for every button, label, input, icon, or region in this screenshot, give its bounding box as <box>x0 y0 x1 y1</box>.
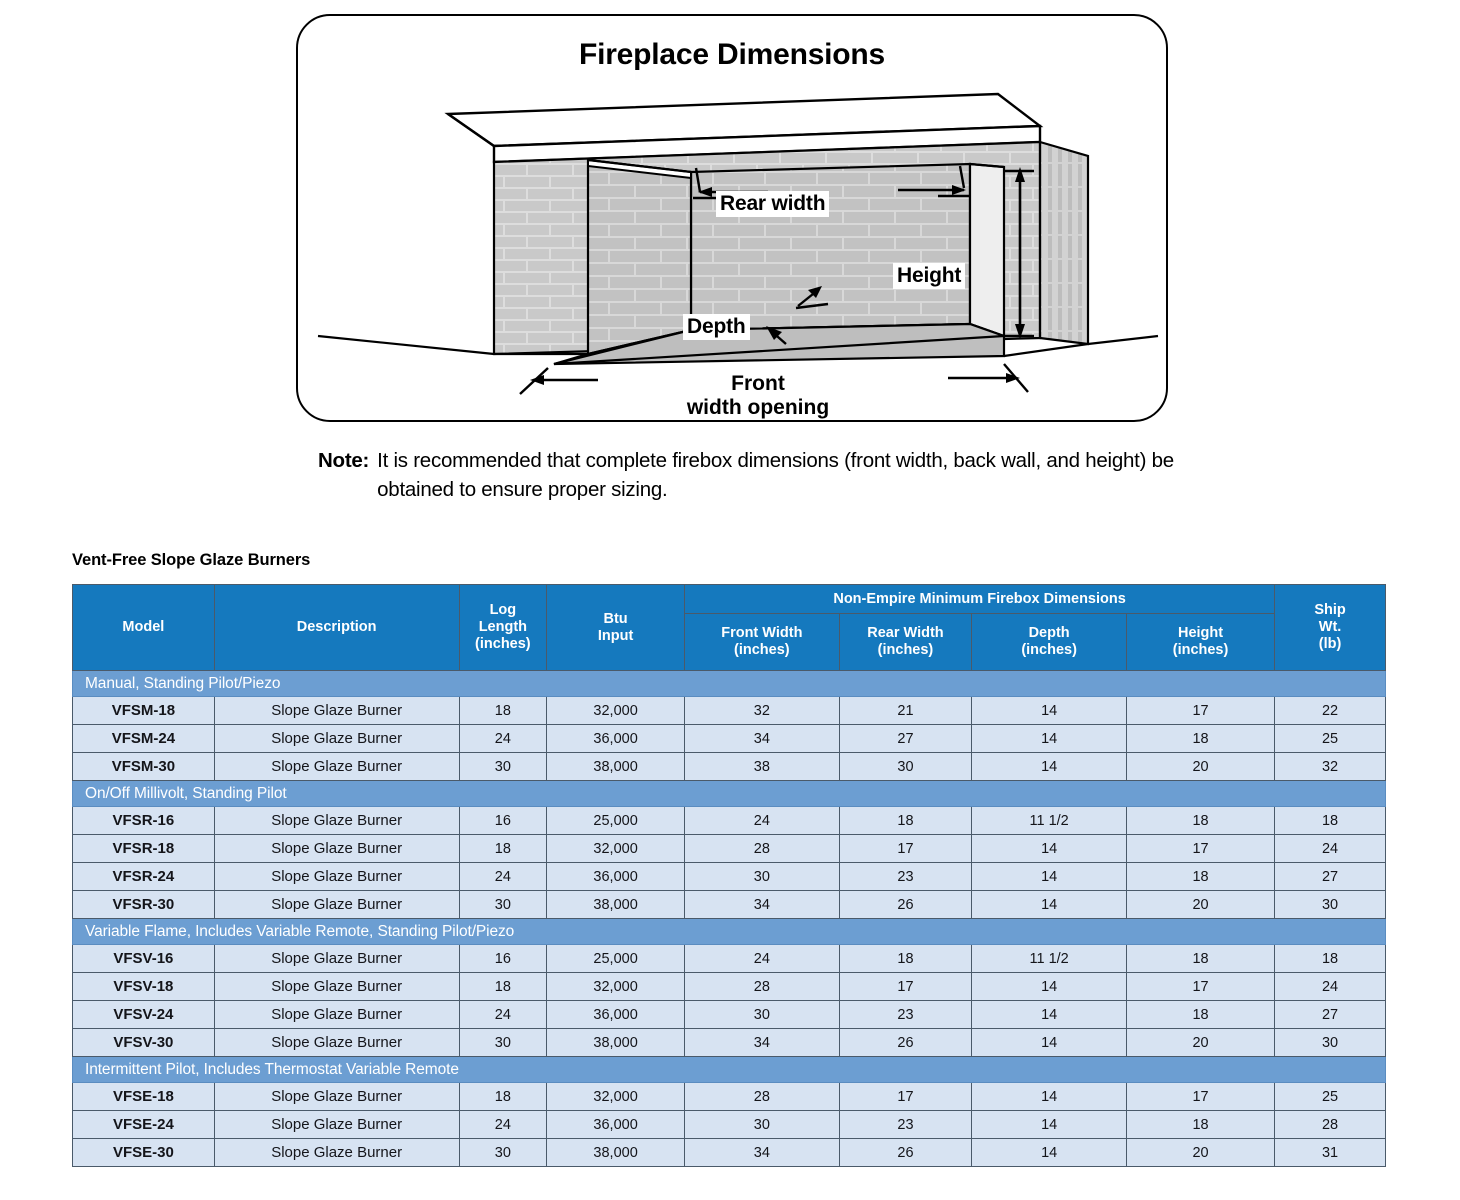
cell-description: Slope Glaze Burner <box>214 725 459 753</box>
cell-log-length: 24 <box>459 1001 547 1029</box>
cell-height: 17 <box>1126 1083 1274 1111</box>
table-row: VFSV-18Slope Glaze Burner1832,0002817141… <box>73 973 1386 1001</box>
cell-height: 18 <box>1126 807 1274 835</box>
section-title: Manual, Standing Pilot/Piezo <box>73 671 1386 697</box>
ship-wt-line3: (lb) <box>1319 636 1342 652</box>
cell-log-length: 18 <box>459 973 547 1001</box>
cell-btu-input: 25,000 <box>547 945 685 973</box>
col-header-description: Description <box>214 585 459 671</box>
cell-front-width: 24 <box>685 945 840 973</box>
log-length-line3: (inches) <box>475 636 531 652</box>
cell-description: Slope Glaze Burner <box>214 697 459 725</box>
cell-btu-input: 32,000 <box>547 697 685 725</box>
cell-model: VFSE-30 <box>73 1139 215 1167</box>
cell-model: VFSE-18 <box>73 1083 215 1111</box>
rear-width-line1: Rear Width <box>867 625 943 641</box>
cell-model: VFSV-16 <box>73 945 215 973</box>
cell-ship-wt: 27 <box>1275 1001 1386 1029</box>
cell-model: VFSM-24 <box>73 725 215 753</box>
cell-model: VFSV-18 <box>73 973 215 1001</box>
log-length-line2: Length <box>479 619 527 635</box>
header-row-group: Model Description Log Length (inches) Bt… <box>73 585 1386 614</box>
cell-ship-wt: 25 <box>1275 1083 1386 1111</box>
cell-log-length: 30 <box>459 1029 547 1057</box>
cell-rear-width: 26 <box>839 1139 972 1167</box>
cell-depth: 14 <box>972 1139 1127 1167</box>
cell-log-length: 18 <box>459 1083 547 1111</box>
cell-log-length: 18 <box>459 835 547 863</box>
front-width-opening-label: Front width opening <box>638 372 878 419</box>
btu-line2: Input <box>598 628 633 644</box>
cell-ship-wt: 31 <box>1275 1139 1386 1167</box>
cell-depth: 14 <box>972 835 1127 863</box>
cell-depth: 14 <box>972 863 1127 891</box>
depth-line1: Depth <box>1029 625 1070 641</box>
cell-height: 17 <box>1126 973 1274 1001</box>
section-title: Intermittent Pilot, Includes Thermostat … <box>73 1057 1386 1083</box>
cell-model: VFSV-30 <box>73 1029 215 1057</box>
cell-model: VFSM-18 <box>73 697 215 725</box>
table-row: VFSE-30Slope Glaze Burner3038,0003426142… <box>73 1139 1386 1167</box>
front-width-line2: width opening <box>687 396 829 419</box>
section-header-row: On/Off Millivolt, Standing Pilot <box>73 781 1386 807</box>
col-header-height: Height (inches) <box>1126 614 1274 671</box>
table-row: VFSV-16Slope Glaze Burner1625,000241811 … <box>73 945 1386 973</box>
depth-line2: (inches) <box>1021 642 1077 658</box>
cell-height: 18 <box>1126 945 1274 973</box>
diagram-title: Fireplace Dimensions <box>298 38 1166 72</box>
cell-height: 18 <box>1126 1001 1274 1029</box>
cell-rear-width: 27 <box>839 725 972 753</box>
cell-model: VFSE-24 <box>73 1111 215 1139</box>
cell-depth: 11 1/2 <box>972 807 1127 835</box>
cell-log-length: 30 <box>459 753 547 781</box>
table-head: Model Description Log Length (inches) Bt… <box>73 585 1386 671</box>
cell-rear-width: 23 <box>839 1111 972 1139</box>
cell-log-length: 24 <box>459 725 547 753</box>
table-row: VFSM-30Slope Glaze Burner3038,0003830142… <box>73 753 1386 781</box>
cell-model: VFSR-24 <box>73 863 215 891</box>
cell-btu-input: 38,000 <box>547 891 685 919</box>
cell-rear-width: 17 <box>839 1083 972 1111</box>
cell-ship-wt: 24 <box>1275 973 1386 1001</box>
cell-rear-width: 26 <box>839 1029 972 1057</box>
table-row: VFSE-24Slope Glaze Burner2436,0003023141… <box>73 1111 1386 1139</box>
table-row: VFSV-24Slope Glaze Burner2436,0003023141… <box>73 1001 1386 1029</box>
table-row: VFSR-16Slope Glaze Burner1625,000241811 … <box>73 807 1386 835</box>
cell-model: VFSM-30 <box>73 753 215 781</box>
section-header-row: Manual, Standing Pilot/Piezo <box>73 671 1386 697</box>
cell-depth: 14 <box>972 1111 1127 1139</box>
front-width-line1: Front Width <box>721 625 802 641</box>
cell-front-width: 34 <box>685 1029 840 1057</box>
ship-wt-line2: Wt. <box>1319 619 1342 635</box>
table-row: VFSE-18Slope Glaze Burner1832,0002817141… <box>73 1083 1386 1111</box>
cell-front-width: 30 <box>685 1001 840 1029</box>
cell-btu-input: 32,000 <box>547 835 685 863</box>
cell-description: Slope Glaze Burner <box>214 1139 459 1167</box>
cell-ship-wt: 27 <box>1275 863 1386 891</box>
front-width-line1: Front <box>731 372 785 395</box>
spec-table-container: Model Description Log Length (inches) Bt… <box>72 584 1386 1167</box>
cell-description: Slope Glaze Burner <box>214 1083 459 1111</box>
cell-height: 17 <box>1126 697 1274 725</box>
cell-depth: 14 <box>972 725 1127 753</box>
cell-front-width: 28 <box>685 973 840 1001</box>
col-header-rear-width: Rear Width (inches) <box>839 614 972 671</box>
cell-rear-width: 26 <box>839 891 972 919</box>
cell-front-width: 32 <box>685 697 840 725</box>
cell-log-length: 24 <box>459 1111 547 1139</box>
height-line2: (inches) <box>1173 642 1229 658</box>
cell-rear-width: 30 <box>839 753 972 781</box>
col-header-depth: Depth (inches) <box>972 614 1127 671</box>
cell-model: VFSR-16 <box>73 807 215 835</box>
cell-ship-wt: 30 <box>1275 891 1386 919</box>
cell-ship-wt: 18 <box>1275 807 1386 835</box>
vent-free-slope-glaze-burners-table: Model Description Log Length (inches) Bt… <box>72 584 1386 1167</box>
note-block: Note:It is recommended that complete fir… <box>318 446 1198 504</box>
col-header-log-length: Log Length (inches) <box>459 585 547 671</box>
table-row: VFSR-30Slope Glaze Burner3038,0003426142… <box>73 891 1386 919</box>
cell-front-width: 30 <box>685 863 840 891</box>
table-caption: Vent-Free Slope Glaze Burners <box>72 551 310 570</box>
cell-btu-input: 32,000 <box>547 1083 685 1111</box>
height-label: Height <box>893 263 965 289</box>
cell-rear-width: 18 <box>839 945 972 973</box>
section-title: Variable Flame, Includes Variable Remote… <box>73 919 1386 945</box>
cell-height: 18 <box>1126 1111 1274 1139</box>
log-length-line1: Log <box>490 602 517 618</box>
cell-description: Slope Glaze Burner <box>214 973 459 1001</box>
cell-description: Slope Glaze Burner <box>214 835 459 863</box>
cell-description: Slope Glaze Burner <box>214 807 459 835</box>
cell-log-length: 30 <box>459 891 547 919</box>
cell-ship-wt: 22 <box>1275 697 1386 725</box>
col-header-front-width: Front Width (inches) <box>685 614 840 671</box>
col-header-ship-wt: Ship Wt. (lb) <box>1275 585 1386 671</box>
cell-description: Slope Glaze Burner <box>214 945 459 973</box>
cell-log-length: 24 <box>459 863 547 891</box>
fireplace-illustration <box>298 68 1170 420</box>
table-body: Manual, Standing Pilot/PiezoVFSM-18Slope… <box>73 671 1386 1167</box>
fireplace-dimensions-panel: Fireplace Dimensions <box>296 14 1168 422</box>
cell-height: 20 <box>1126 1139 1274 1167</box>
cell-btu-input: 25,000 <box>547 807 685 835</box>
cell-depth: 14 <box>972 1083 1127 1111</box>
cell-depth: 14 <box>972 1001 1127 1029</box>
cell-description: Slope Glaze Burner <box>214 863 459 891</box>
cell-ship-wt: 18 <box>1275 945 1386 973</box>
section-header-row: Variable Flame, Includes Variable Remote… <box>73 919 1386 945</box>
cell-btu-input: 38,000 <box>547 1029 685 1057</box>
ship-wt-line1: Ship <box>1314 602 1345 618</box>
cell-btu-input: 36,000 <box>547 725 685 753</box>
cell-depth: 14 <box>972 973 1127 1001</box>
btu-line1: Btu <box>604 611 628 627</box>
cell-height: 20 <box>1126 753 1274 781</box>
cell-btu-input: 36,000 <box>547 863 685 891</box>
cell-ship-wt: 32 <box>1275 753 1386 781</box>
cell-log-length: 18 <box>459 697 547 725</box>
cell-rear-width: 17 <box>839 973 972 1001</box>
cell-front-width: 34 <box>685 891 840 919</box>
cell-rear-width: 21 <box>839 697 972 725</box>
cell-depth: 14 <box>972 891 1127 919</box>
rear-width-line2: (inches) <box>878 642 934 658</box>
cell-height: 20 <box>1126 1029 1274 1057</box>
cell-height: 18 <box>1126 725 1274 753</box>
cell-ship-wt: 30 <box>1275 1029 1386 1057</box>
cell-log-length: 16 <box>459 807 547 835</box>
cell-model: VFSR-18 <box>73 835 215 863</box>
cell-btu-input: 36,000 <box>547 1111 685 1139</box>
cell-log-length: 30 <box>459 1139 547 1167</box>
note-text: It is recommended that complete firebox … <box>377 446 1177 504</box>
cell-rear-width: 17 <box>839 835 972 863</box>
cell-front-width: 38 <box>685 753 840 781</box>
cell-description: Slope Glaze Burner <box>214 1001 459 1029</box>
cell-rear-width: 18 <box>839 807 972 835</box>
cell-front-width: 28 <box>685 1083 840 1111</box>
cell-depth: 11 1/2 <box>972 945 1127 973</box>
cell-description: Slope Glaze Burner <box>214 753 459 781</box>
section-header-row: Intermittent Pilot, Includes Thermostat … <box>73 1057 1386 1083</box>
cell-depth: 14 <box>972 753 1127 781</box>
cell-rear-width: 23 <box>839 863 972 891</box>
cell-ship-wt: 28 <box>1275 1111 1386 1139</box>
table-row: VFSM-18Slope Glaze Burner1832,0003221141… <box>73 697 1386 725</box>
cell-ship-wt: 25 <box>1275 725 1386 753</box>
table-row: VFSM-24Slope Glaze Burner2436,0003427141… <box>73 725 1386 753</box>
cell-height: 18 <box>1126 863 1274 891</box>
cell-btu-input: 32,000 <box>547 973 685 1001</box>
note-label: Note: <box>318 449 369 472</box>
cell-front-width: 34 <box>685 725 840 753</box>
cell-depth: 14 <box>972 1029 1127 1057</box>
cell-ship-wt: 24 <box>1275 835 1386 863</box>
depth-label: Depth <box>683 314 750 340</box>
cell-height: 20 <box>1126 891 1274 919</box>
table-row: VFSR-18Slope Glaze Burner1832,0002817141… <box>73 835 1386 863</box>
table-row: VFSV-30Slope Glaze Burner3038,0003426142… <box>73 1029 1386 1057</box>
cell-model: VFSR-30 <box>73 891 215 919</box>
cell-front-width: 28 <box>685 835 840 863</box>
cell-front-width: 24 <box>685 807 840 835</box>
height-line1: Height <box>1178 625 1223 641</box>
cell-description: Slope Glaze Burner <box>214 1111 459 1139</box>
cell-front-width: 34 <box>685 1139 840 1167</box>
rear-width-label: Rear width <box>716 191 829 217</box>
col-header-btu-input: Btu Input <box>547 585 685 671</box>
cell-model: VFSV-24 <box>73 1001 215 1029</box>
table-row: VFSR-24Slope Glaze Burner2436,0003023141… <box>73 863 1386 891</box>
cell-description: Slope Glaze Burner <box>214 891 459 919</box>
cell-front-width: 30 <box>685 1111 840 1139</box>
col-header-group-firebox-dimensions: Non-Empire Minimum Firebox Dimensions <box>685 585 1275 614</box>
cell-btu-input: 38,000 <box>547 1139 685 1167</box>
cell-description: Slope Glaze Burner <box>214 1029 459 1057</box>
cell-height: 17 <box>1126 835 1274 863</box>
cell-btu-input: 36,000 <box>547 1001 685 1029</box>
cell-rear-width: 23 <box>839 1001 972 1029</box>
col-header-model: Model <box>73 585 215 671</box>
section-title: On/Off Millivolt, Standing Pilot <box>73 781 1386 807</box>
cell-log-length: 16 <box>459 945 547 973</box>
cell-btu-input: 38,000 <box>547 753 685 781</box>
cell-depth: 14 <box>972 697 1127 725</box>
front-width-line2: (inches) <box>734 642 790 658</box>
